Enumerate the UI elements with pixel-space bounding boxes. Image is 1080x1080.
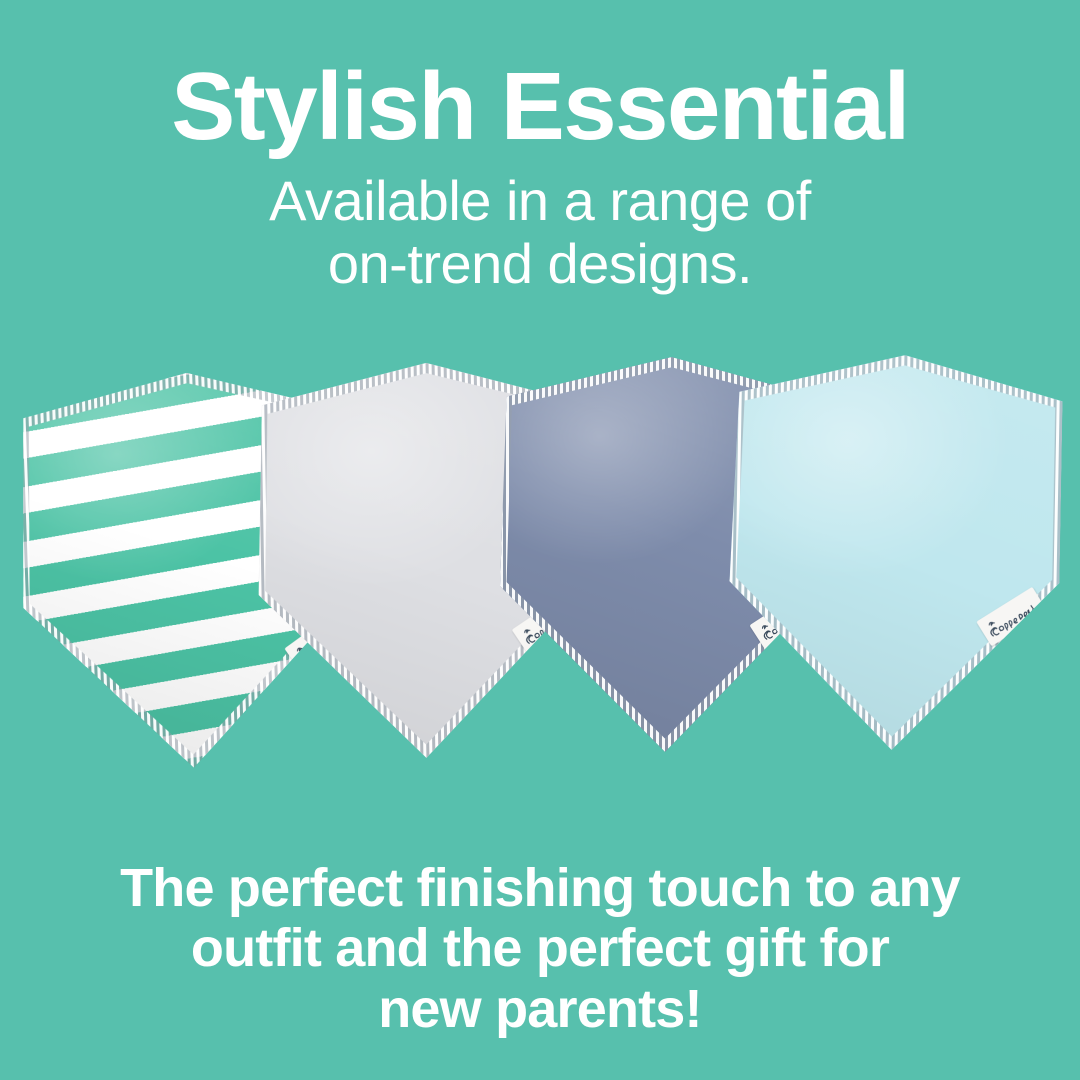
promo-image-canvas: Stylish Essential Available in a range o… [0,0,1080,1080]
solid-fabric [727,352,1064,753]
light-aqua-bib [727,352,1064,753]
page-title: Stylish Essential [0,58,1080,156]
subheadline-line-1: Available in a range of [0,170,1080,233]
subheadline: Available in a range of on-trend designs… [0,170,1080,295]
caption-line-1: The perfect finishing touch to any [0,858,1080,918]
headline-block: Stylish Essential Available in a range o… [0,58,1080,295]
caption-line-2: outfit and the perfect gift for [0,918,1080,978]
subheadline-line-2: on-trend designs. [0,233,1080,296]
bib-fabric-surface [727,352,1064,753]
product-showcase [0,355,1080,805]
caption-block: The perfect finishing touch to any outfi… [0,858,1080,1039]
caption-line-3: new parents! [0,979,1080,1039]
